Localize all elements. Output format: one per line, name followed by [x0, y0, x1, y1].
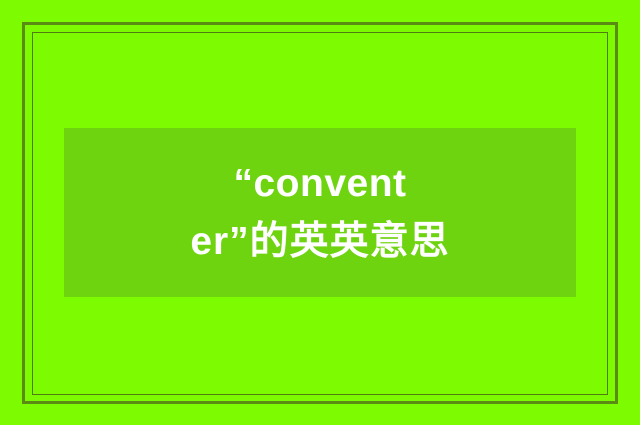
poster-canvas: “convent er”的英英意思 — [0, 0, 640, 425]
title-line-1: “convent — [233, 155, 406, 213]
title-line-2: er”的英英意思 — [190, 213, 449, 271]
title-panel: “convent er”的英英意思 — [64, 128, 576, 297]
